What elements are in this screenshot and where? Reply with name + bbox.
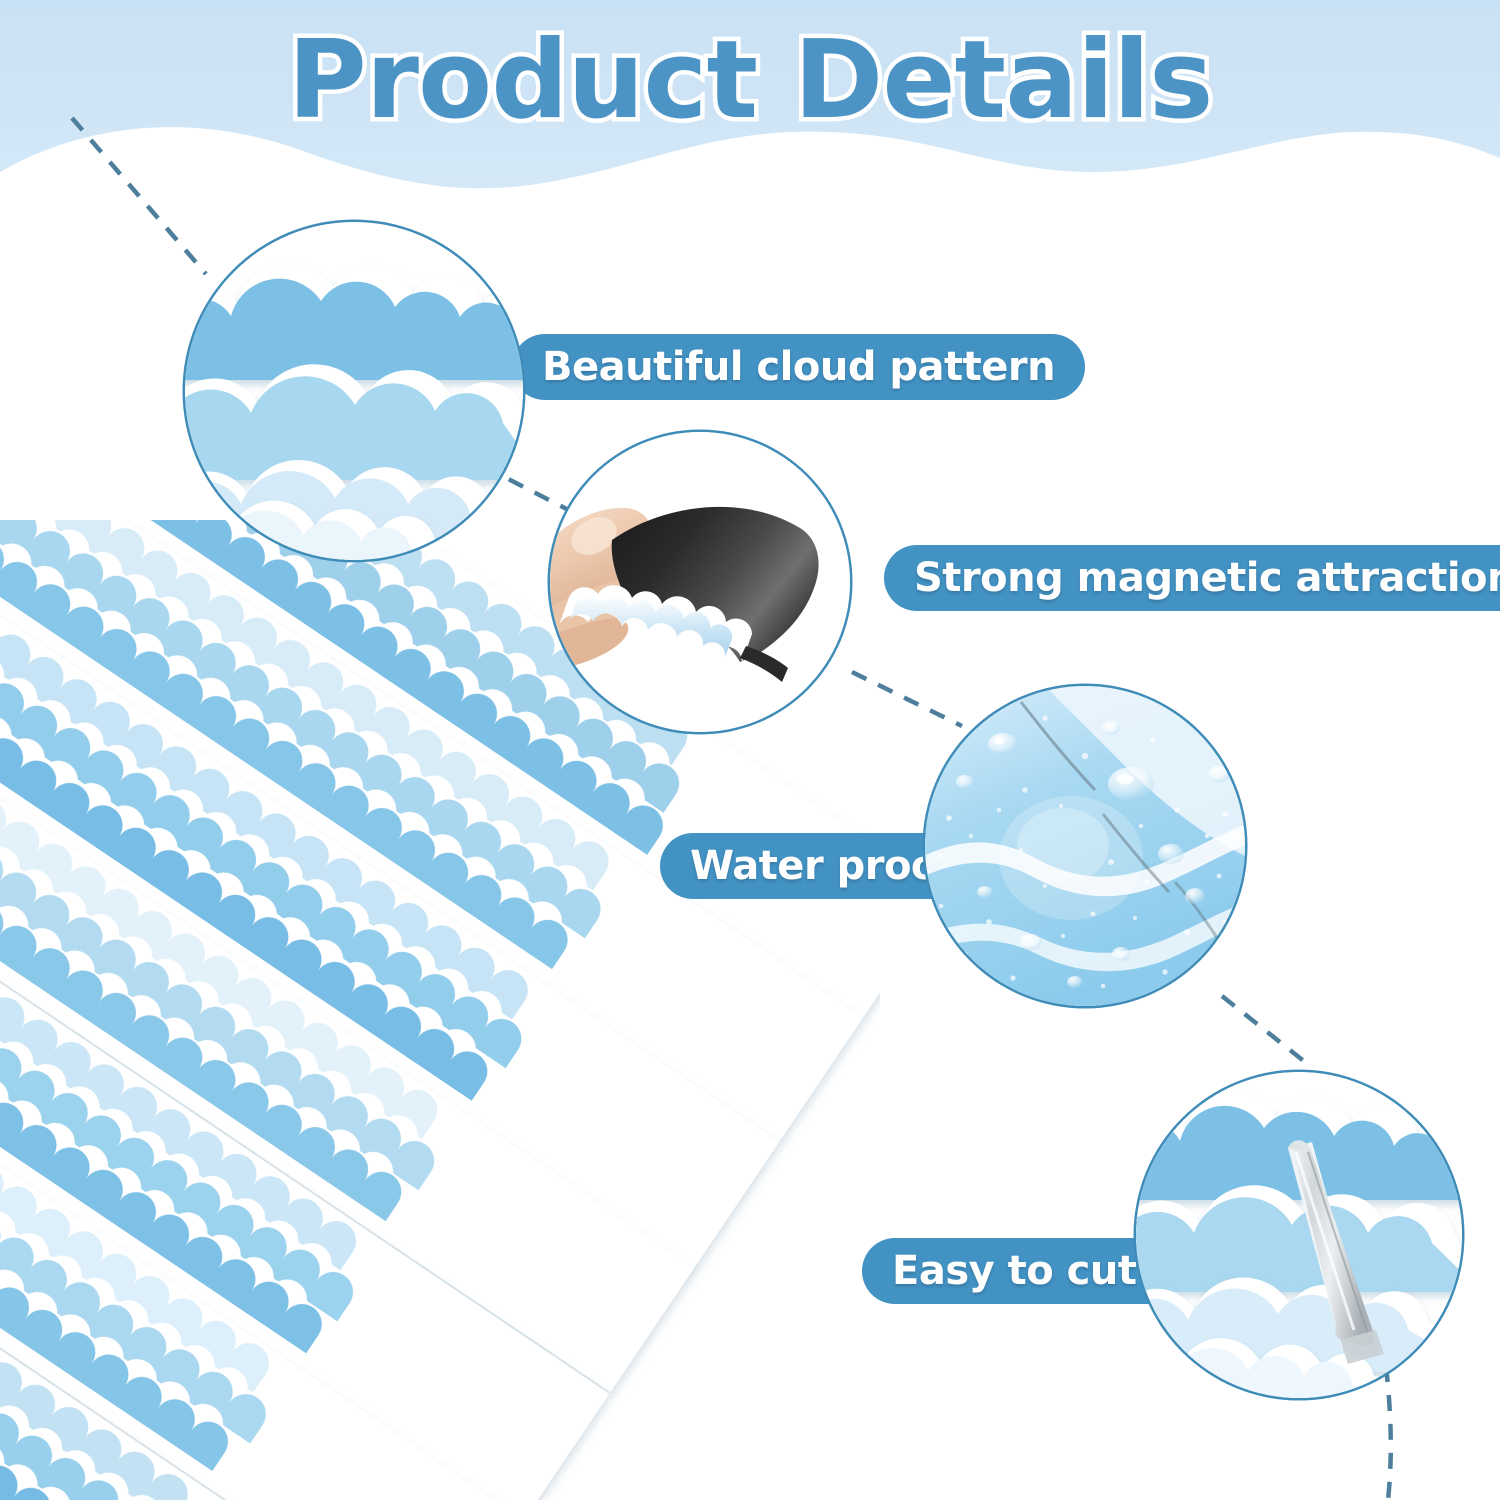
feature-image-waterproof xyxy=(925,686,1245,1006)
feature-label-magnetic[interactable]: Strong magnetic attraction xyxy=(884,545,1500,611)
feature-label-text: Strong magnetic attraction xyxy=(914,555,1500,601)
feature-image-cloud-pattern xyxy=(185,222,523,560)
header-banner: Product Details xyxy=(0,0,1500,210)
feature-image-magnetic xyxy=(550,432,850,732)
feature-image-easy-to-cut xyxy=(1136,1072,1462,1398)
page-title: Product Details xyxy=(0,18,1500,143)
feature-label-text: Beautiful cloud pattern xyxy=(542,344,1055,390)
product-details-infographic: Product Details xyxy=(0,0,1500,1500)
feature-label-text: Water proof xyxy=(690,843,955,889)
feature-label-text: Easy to cut xyxy=(892,1248,1136,1294)
feature-label-cloud-pattern[interactable]: Beautiful cloud pattern xyxy=(512,334,1085,400)
